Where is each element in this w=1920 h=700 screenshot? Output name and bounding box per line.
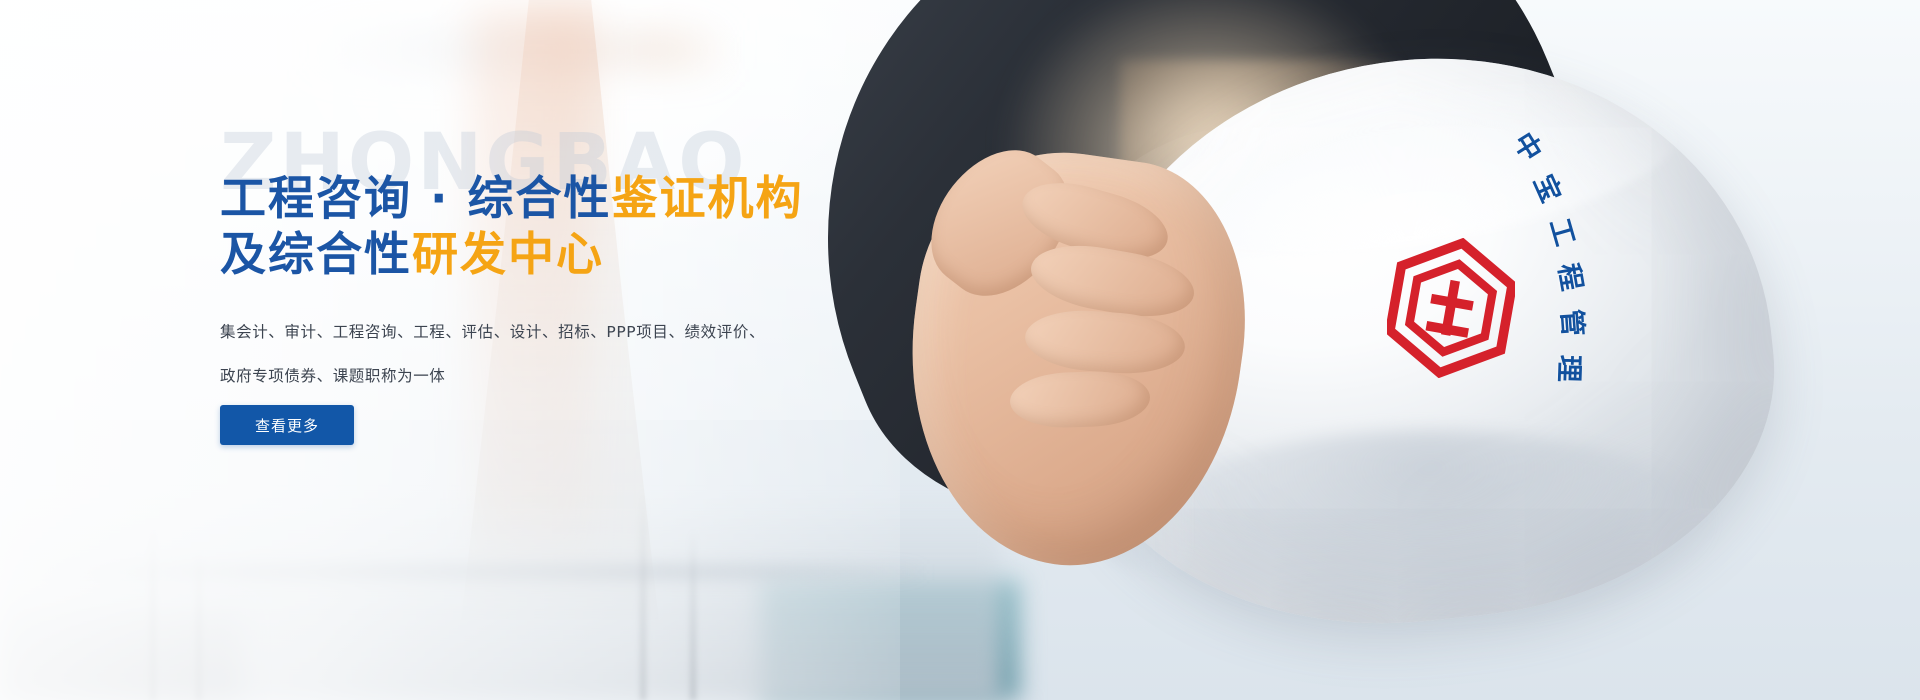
helmet-brand-char-0: 中 [1506, 124, 1553, 168]
helmet-brand-char-3: 程 [1551, 260, 1594, 293]
headline-line2-orange: 研发中心 [412, 227, 604, 281]
helmet-brand-char-1: 宝 [1526, 167, 1573, 208]
subtitle-line-2: 政府专项债券、课题职称为一体 [220, 354, 820, 398]
hero-subtitle: 集会计、审计、工程咨询、工程、评估、设计、招标、PPP项目、绩效评价、 政府专项… [220, 310, 820, 398]
page-title: 工程咨询 · 综合性鉴证机构 及综合性研发中心 [220, 170, 804, 282]
worker-photo-region: 中 宝 工 程 管 理 [820, 0, 1920, 700]
view-more-button[interactable]: 查看更多 [220, 405, 354, 445]
hero-content: ZHONGBAO 工程咨询 · 综合性鉴证机构 及综合性研发中心 集会计、审计、… [220, 0, 980, 700]
headline-line2-blue: 及综合性 [220, 227, 412, 281]
zhongbao-hexagon-emblem-icon [1387, 238, 1515, 378]
headline-line-2: 及综合性研发中心 [220, 226, 804, 282]
headline-line1-blue: 工程咨询 · 综合性 [220, 171, 612, 225]
helmet-brand-char-4: 管 [1554, 308, 1595, 338]
headline-line1-orange: 鉴证机构 [612, 171, 804, 225]
headline-line-1: 工程咨询 · 综合性鉴证机构 [220, 170, 804, 226]
helmet-brand-char-5: 理 [1552, 354, 1592, 382]
hero-banner: 中 宝 工 程 管 理 ZHONGBAO 工程咨询 · 综合性鉴证机构 [0, 0, 1920, 700]
helmet-brand-char-2: 工 [1542, 213, 1587, 250]
helmet-shadow [1150, 430, 1710, 620]
subtitle-line-1: 集会计、审计、工程咨询、工程、评估、设计、招标、PPP项目、绩效评价、 [220, 310, 820, 354]
